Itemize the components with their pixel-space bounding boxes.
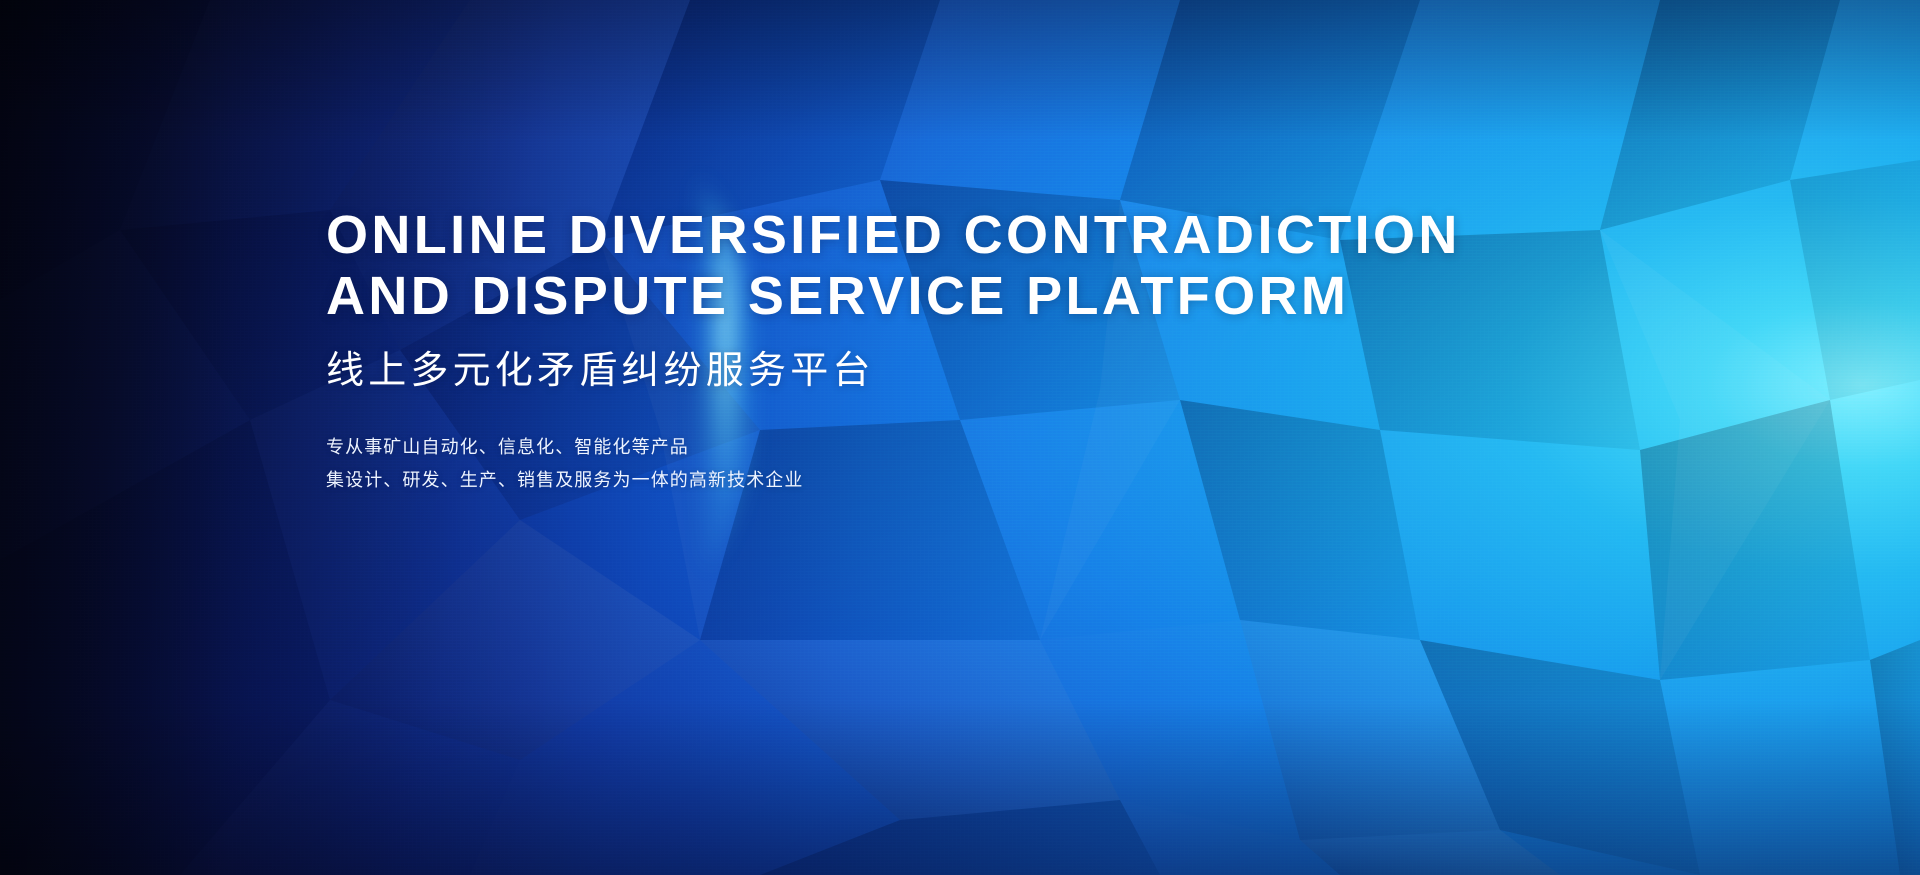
page-title-line-2: AND DISPUTE SERVICE PLATFORM	[326, 266, 1426, 327]
page-subtitle: 线上多元化矛盾纠纷服务平台	[326, 347, 1426, 395]
company-description: 专从事矿山自动化、信息化、智能化等产品 集设计、研发、生产、销售及服务为一体的高…	[326, 431, 1426, 497]
hero-text-block: ONLINE DIVERSIFIED CONTRADICTION AND DIS…	[326, 205, 1426, 497]
description-line-2: 集设计、研发、生产、销售及服务为一体的高新技术企业	[326, 464, 1426, 497]
page-title: ONLINE DIVERSIFIED CONTRADICTION AND DIS…	[326, 205, 1426, 327]
description-line-1: 专从事矿山自动化、信息化、智能化等产品	[326, 431, 1426, 464]
page-title-line-1: ONLINE DIVERSIFIED CONTRADICTION	[326, 205, 1426, 266]
hero-banner: ONLINE DIVERSIFIED CONTRADICTION AND DIS…	[0, 0, 1920, 875]
